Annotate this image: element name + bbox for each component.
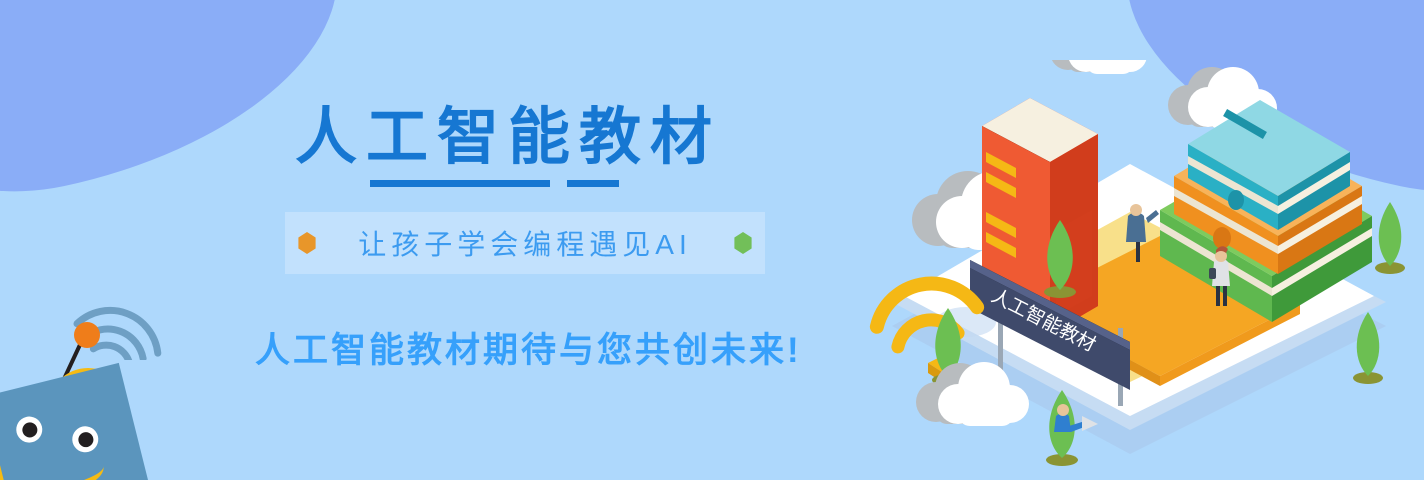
page-title: 人工智能教材 <box>295 104 721 172</box>
isometric-illustration: 人工智能教材 <box>830 60 1424 480</box>
subtitle-banner: 让孩子学会编程遇见AI <box>285 212 765 274</box>
hexagon-bullet-right-icon <box>733 232 753 254</box>
robot-antenna-ball-icon <box>74 322 100 348</box>
subtitle-text: 让孩子学会编程遇见AI <box>317 223 733 263</box>
underline-bar-long <box>370 180 550 187</box>
underline-bar-short <box>567 180 619 187</box>
promo-banner: 人工智能教材 让孩子学会编程遇见AI 人工智能教材期待与您共创未来! <box>0 0 1424 480</box>
robot-smile-icon <box>28 450 108 480</box>
robot-mascot <box>0 250 190 480</box>
tagline-text: 人工智能教材期待与您共创未来! <box>255 322 802 373</box>
tree-right-upper <box>1375 202 1405 274</box>
robot-head <box>0 363 149 480</box>
robot-eye-left-icon <box>14 414 46 446</box>
title-underline-decoration <box>370 180 670 187</box>
isometric-scene-svg: 人工智能教材 <box>830 60 1424 480</box>
hexagon-bullet-left-icon <box>297 232 317 254</box>
cloud-top-right-icon <box>1050 60 1147 74</box>
